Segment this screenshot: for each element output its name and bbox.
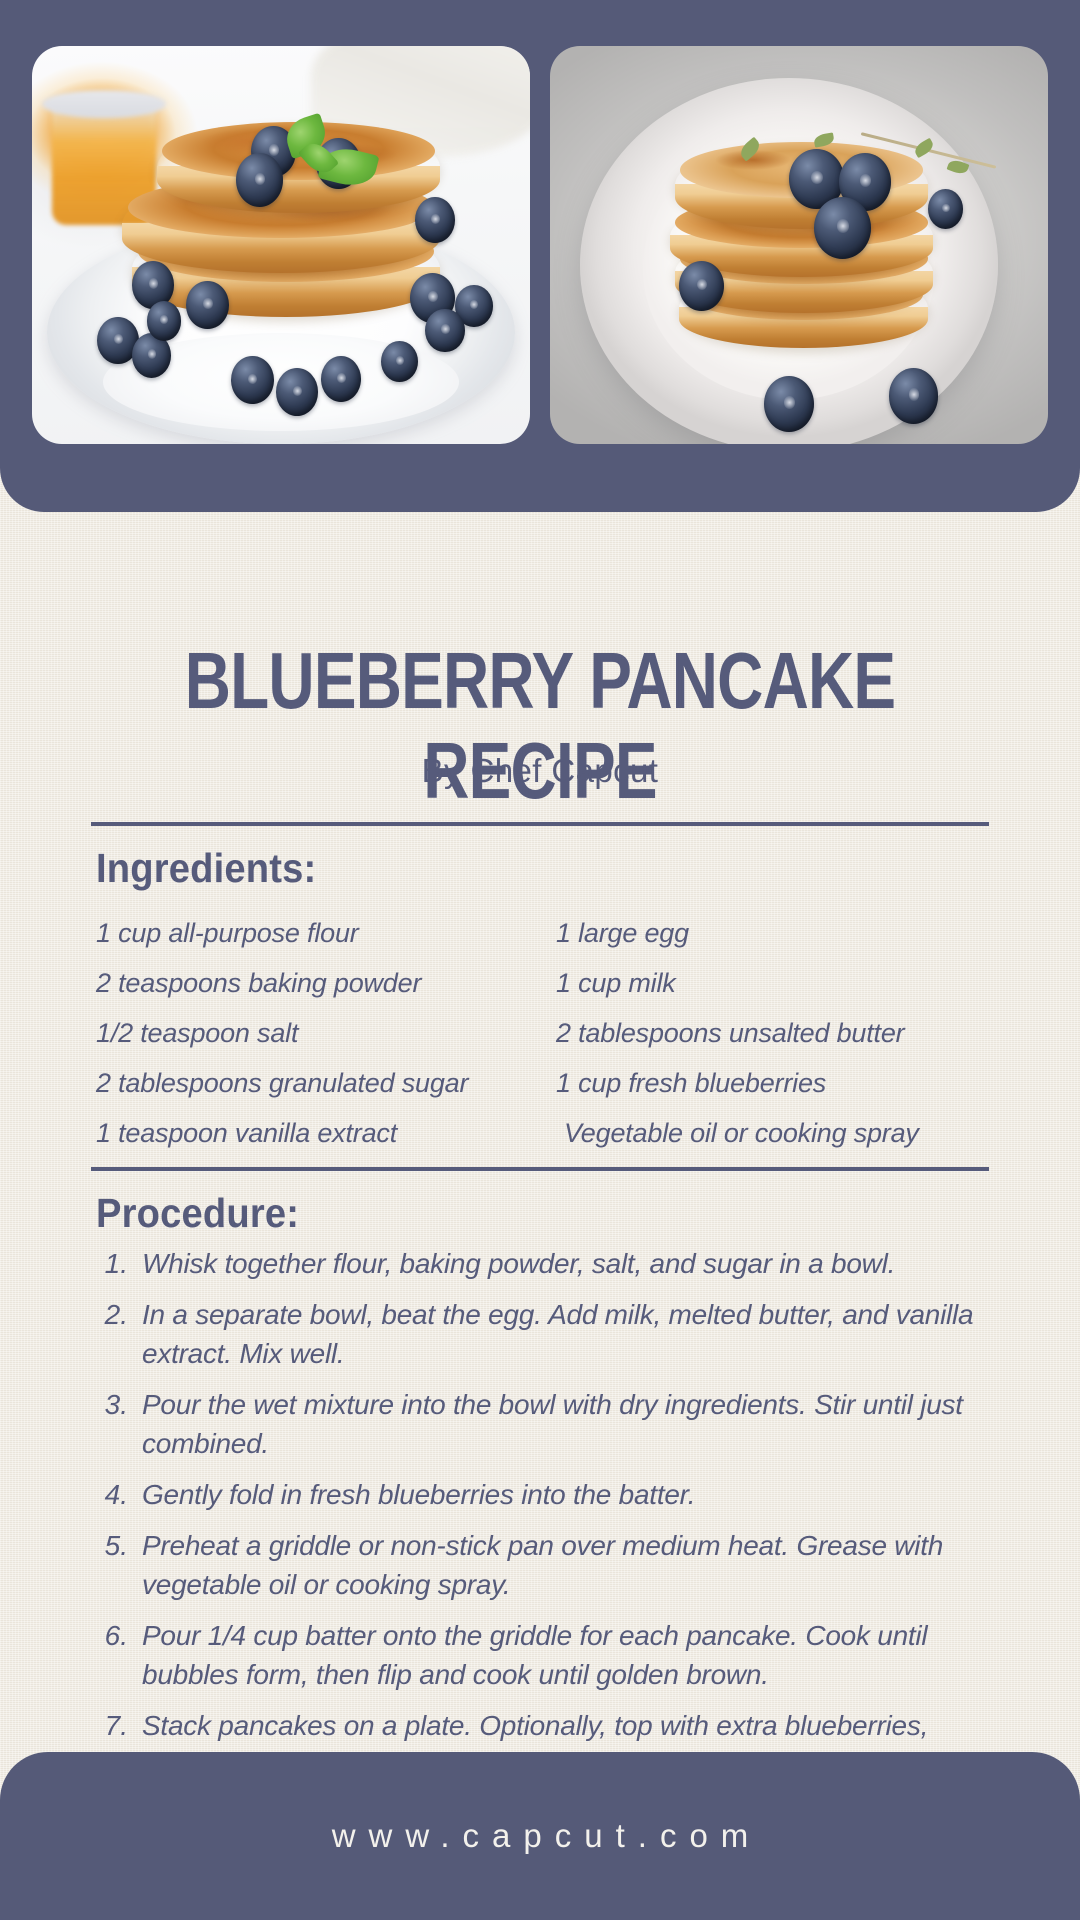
step-text: Pour the wet mixture into the bowl with … <box>142 1385 1006 1463</box>
list-item: 1 cup milk <box>556 958 996 1008</box>
list-item: 2 tablespoons granulated sugar <box>96 1058 556 1108</box>
blueberry <box>415 197 455 243</box>
list-item: 1/2 teaspoon salt <box>96 1008 556 1058</box>
step-number: 3. <box>96 1385 142 1463</box>
step-text: Preheat a griddle or non-stick pan over … <box>142 1526 1006 1604</box>
recipe-card: BLUEBERRY PANCAKE RECIPE By Chef Capcut … <box>0 0 1080 1920</box>
blueberry <box>679 261 724 311</box>
divider-procedure <box>91 1167 989 1171</box>
step-number: 5. <box>96 1526 142 1604</box>
step-text: In a separate bowl, beat the egg. Add mi… <box>142 1295 1006 1373</box>
website-url[interactable]: www.capcut.com <box>319 1817 762 1855</box>
blueberry <box>381 341 418 383</box>
blueberry <box>321 356 361 402</box>
list-item: 1 cup all-purpose flour <box>96 908 556 958</box>
pancake-photo-left <box>32 46 530 444</box>
list-item: 4. Gently fold in fresh blueberries into… <box>96 1475 1006 1514</box>
step-text: Gently fold in fresh blueberries into th… <box>142 1475 1006 1514</box>
list-item: 5. Preheat a griddle or non-stick pan ov… <box>96 1526 1006 1604</box>
blueberry <box>231 356 273 404</box>
list-item: 1 cup fresh blueberries <box>556 1058 996 1108</box>
photo-row <box>32 46 1048 444</box>
ingredients-heading: Ingredients: <box>96 845 316 892</box>
list-item: 6. Pour 1/4 cup batter onto the griddle … <box>96 1616 1006 1694</box>
ingredients-column-right: 1 large egg 1 cup milk 2 tablespoons uns… <box>556 908 996 1158</box>
ingredients-column-left: 1 cup all-purpose flour 2 teaspoons baki… <box>96 908 556 1158</box>
procedure-heading: Procedure: <box>96 1190 299 1237</box>
ingredients-list: 1 cup all-purpose flour 2 teaspoons baki… <box>96 908 996 1158</box>
step-number: 1. <box>96 1244 142 1283</box>
step-text: Pour 1/4 cup batter onto the griddle for… <box>142 1616 1006 1694</box>
list-item: 1 teaspoon vanilla extract <box>96 1108 556 1158</box>
step-number: 2. <box>96 1295 142 1373</box>
blueberry <box>147 301 182 341</box>
pancake-photo-right <box>550 46 1048 444</box>
footer-band: www.capcut.com <box>0 1752 1080 1920</box>
list-item: 2 teaspoons baking powder <box>96 958 556 1008</box>
honey-jar-lid <box>42 90 167 118</box>
list-item: 1 large egg <box>556 908 996 958</box>
list-item: Vegetable oil or cooking spray <box>556 1108 996 1158</box>
blueberry <box>889 368 939 424</box>
byline: By Chef Capcut <box>0 752 1080 790</box>
list-item: 2. In a separate bowl, beat the egg. Add… <box>96 1295 1006 1373</box>
step-number: 6. <box>96 1616 142 1694</box>
blueberry <box>186 281 228 329</box>
list-item: 1. Whisk together flour, baking powder, … <box>96 1244 1006 1283</box>
blueberry <box>814 197 871 259</box>
step-number: 4. <box>96 1475 142 1514</box>
list-item: 3. Pour the wet mixture into the bowl wi… <box>96 1385 1006 1463</box>
divider-ingredients <box>91 822 989 826</box>
procedure-list: 1. Whisk together flour, baking powder, … <box>96 1244 1006 1796</box>
list-item: 2 tablespoons unsalted butter <box>556 1008 996 1058</box>
blueberry <box>764 376 814 432</box>
step-text: Whisk together flour, baking powder, sal… <box>142 1244 1006 1283</box>
